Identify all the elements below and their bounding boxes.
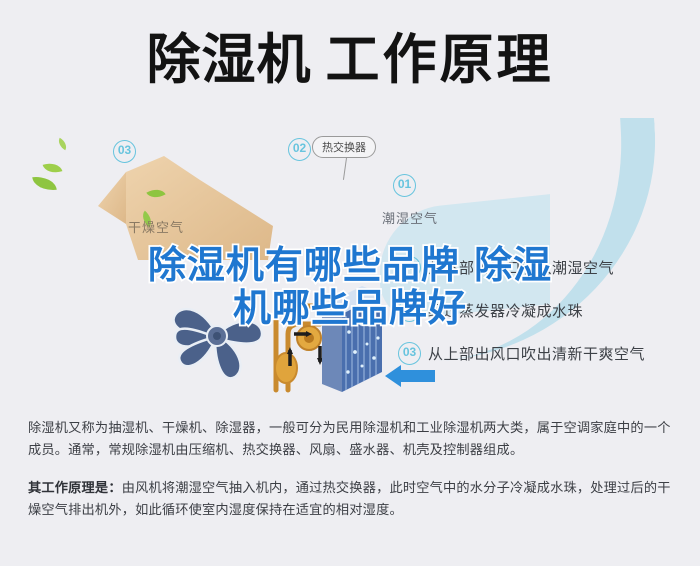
article-paragraph-2-lead: 其工作原理是： — [28, 481, 122, 496]
leaf-icon — [56, 138, 70, 150]
dehumidifier-diagram: 03 02 01 热交换器 干燥空气 潮湿空气 水箱 01 从下部进风口吸入潮湿… — [0, 118, 700, 400]
label-humid-air: 潮湿空气 — [382, 208, 438, 227]
process-step: 03 从上部出风口吹出清新干爽空气 — [398, 342, 688, 365]
process-step: 02 经过蒸发器冷凝成水珠 — [398, 299, 688, 322]
diagram-badge-01: 01 — [393, 174, 416, 197]
step-badge: 01 — [398, 256, 421, 279]
leaf-icon — [32, 175, 56, 192]
title-text: 除湿机工作原理 — [147, 33, 554, 87]
article-paragraph-2-rest: 由风机将潮湿空气抽入机内，通过热交换器，此时空气中的水分子冷凝成水珠，处理过后的… — [28, 481, 671, 518]
heat-exchanger-icon — [312, 280, 386, 400]
page-title: 除湿机工作原理 — [0, 0, 700, 120]
diagram-badge-02: 02 — [288, 138, 311, 161]
leaf-icon — [43, 160, 63, 177]
label-dry-air: 干燥空气 — [128, 217, 184, 236]
article-paragraph-2: 其工作原理是：由风机将潮湿空气抽入机内，通过热交换器，此时空气中的水分子冷凝成水… — [28, 478, 676, 522]
step-text: 从下部进风口吸入潮湿空气 — [428, 257, 614, 278]
heat-exchanger-callout: 热交换器 — [312, 136, 376, 158]
process-step-list: 01 从下部进风口吸入潮湿空气 02 经过蒸发器冷凝成水珠 03 从上部出风口吹… — [398, 256, 688, 385]
article-paragraph-1: 除湿机又称为抽湿机、干燥机、除湿器，一般可分为民用除湿机和工业除湿机两大类，属于… — [28, 418, 676, 462]
step-badge: 03 — [398, 342, 421, 365]
step-badge: 02 — [398, 299, 421, 322]
process-step: 01 从下部进风口吸入潮湿空气 — [398, 256, 688, 279]
diagram-badge-03: 03 — [113, 140, 136, 163]
title-part1: 除湿机 — [147, 28, 312, 91]
dry-air-arrow-icon — [68, 154, 278, 264]
title-part2: 工作原理 — [326, 28, 554, 91]
article-body: 除湿机又称为抽湿机、干燥机、除湿器，一般可分为民用除湿机和工业除湿机两大类，属于… — [28, 418, 676, 538]
page-root: 除湿机工作原理 — [0, 0, 700, 566]
step-text: 经过蒸发器冷凝成水珠 — [428, 300, 583, 321]
step-text: 从上部出风口吹出清新干爽空气 — [428, 343, 645, 364]
